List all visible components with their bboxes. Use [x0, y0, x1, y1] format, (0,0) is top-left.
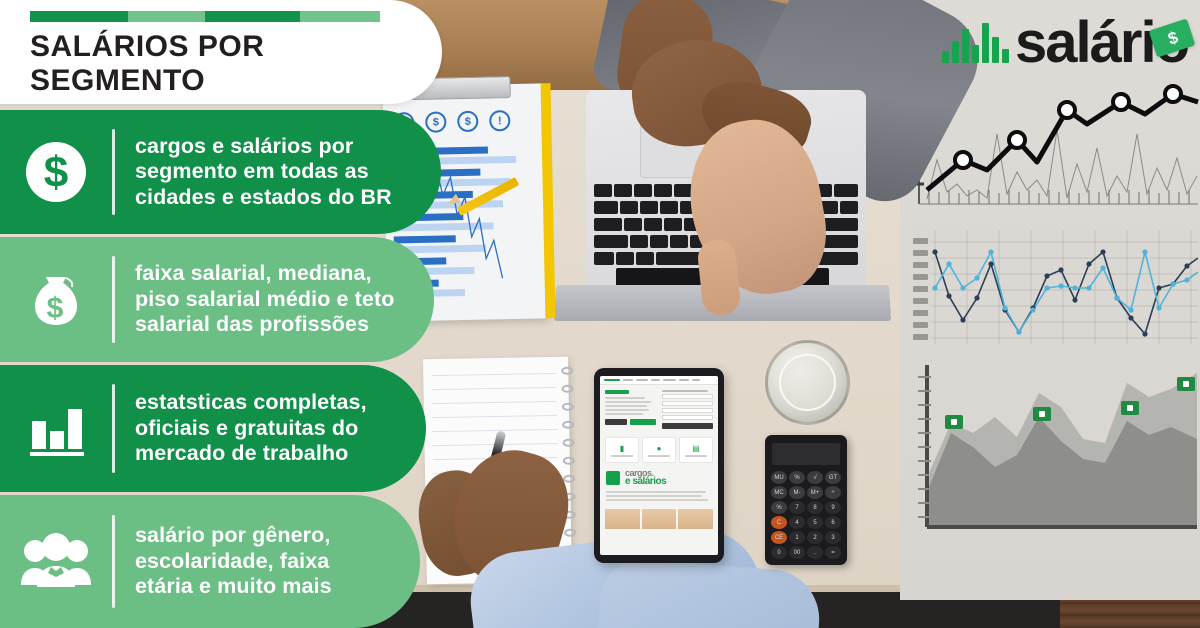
feature-card-1[interactable]: $ cargos e salários por segmento em toda… [0, 110, 441, 234]
equalizer-bars-icon [942, 23, 1009, 63]
brand-logo[interactable]: salário $ [942, 14, 1188, 72]
svg-text:$: $ [44, 148, 68, 197]
tablet-feature-cards: ▮ ● ▤ [600, 434, 718, 466]
tablet-navbar [600, 376, 718, 385]
header-stripe [30, 11, 380, 22]
feature-card-3[interactable]: estatsticas completas, oficiais e gratui… [0, 365, 426, 492]
feature-card-2[interactable]: $ faixa salarial, mediana, piso salarial… [0, 237, 434, 362]
stacked-area-chart [905, 355, 1200, 595]
page-title: SALÁRIOS POR SEGMENTO [30, 30, 442, 98]
bar-chart-icon [0, 397, 112, 461]
tablet-photo-strip [600, 506, 718, 532]
dollar-circle-icon: $ [0, 140, 112, 204]
money-bag-icon: $ [0, 268, 112, 332]
tablet-device: ▮ ● ▤ cargos. e salários [594, 368, 724, 563]
feature-card-1-text: cargos e salários por segmento em todas … [115, 134, 392, 210]
people-group-icon [0, 533, 112, 591]
tablet-headline-green: e salários [625, 477, 666, 487]
feature-card-3-text: estatsticas completas, oficiais e gratui… [115, 390, 367, 466]
svg-text:$: $ [47, 292, 64, 325]
clipboard-badge-3: $ [457, 111, 478, 132]
calculator: MU%√GT MCM-M+÷ %789 C456 CE123 000.= [765, 435, 847, 565]
header-banner: SALÁRIOS POR SEGMENTO [0, 0, 442, 104]
dual-series-chart [905, 222, 1200, 352]
tablet-hero [600, 385, 718, 434]
stripe-segment-4 [300, 11, 381, 22]
feature-card-4-text: salário por gênero, escolaridade, faixa … [115, 523, 332, 599]
logo-wordmark: salário $ [1015, 14, 1188, 72]
feature-card-list: $ cargos e salários por segmento em toda… [0, 110, 441, 628]
feature-card-4[interactable]: salário por gênero, escolaridade, faixa … [0, 495, 420, 628]
tablet-screen: ▮ ● ▤ cargos. e salários [600, 376, 718, 555]
calculator-keypad: MU%√GT MCM-M+÷ %789 C456 CE123 000.= [771, 471, 841, 559]
stripe-segment-1 [30, 11, 128, 22]
stripe-segment-2 [128, 11, 205, 22]
feature-card-2-text: faixa salarial, mediana, piso salarial m… [115, 261, 395, 337]
clipboard-badge-4: ! [489, 110, 510, 131]
stripe-segment-3 [205, 11, 300, 22]
tablet-cargos-block: cargos. e salários [600, 466, 718, 506]
water-glass-inner [779, 354, 836, 411]
calculator-display [772, 443, 840, 465]
